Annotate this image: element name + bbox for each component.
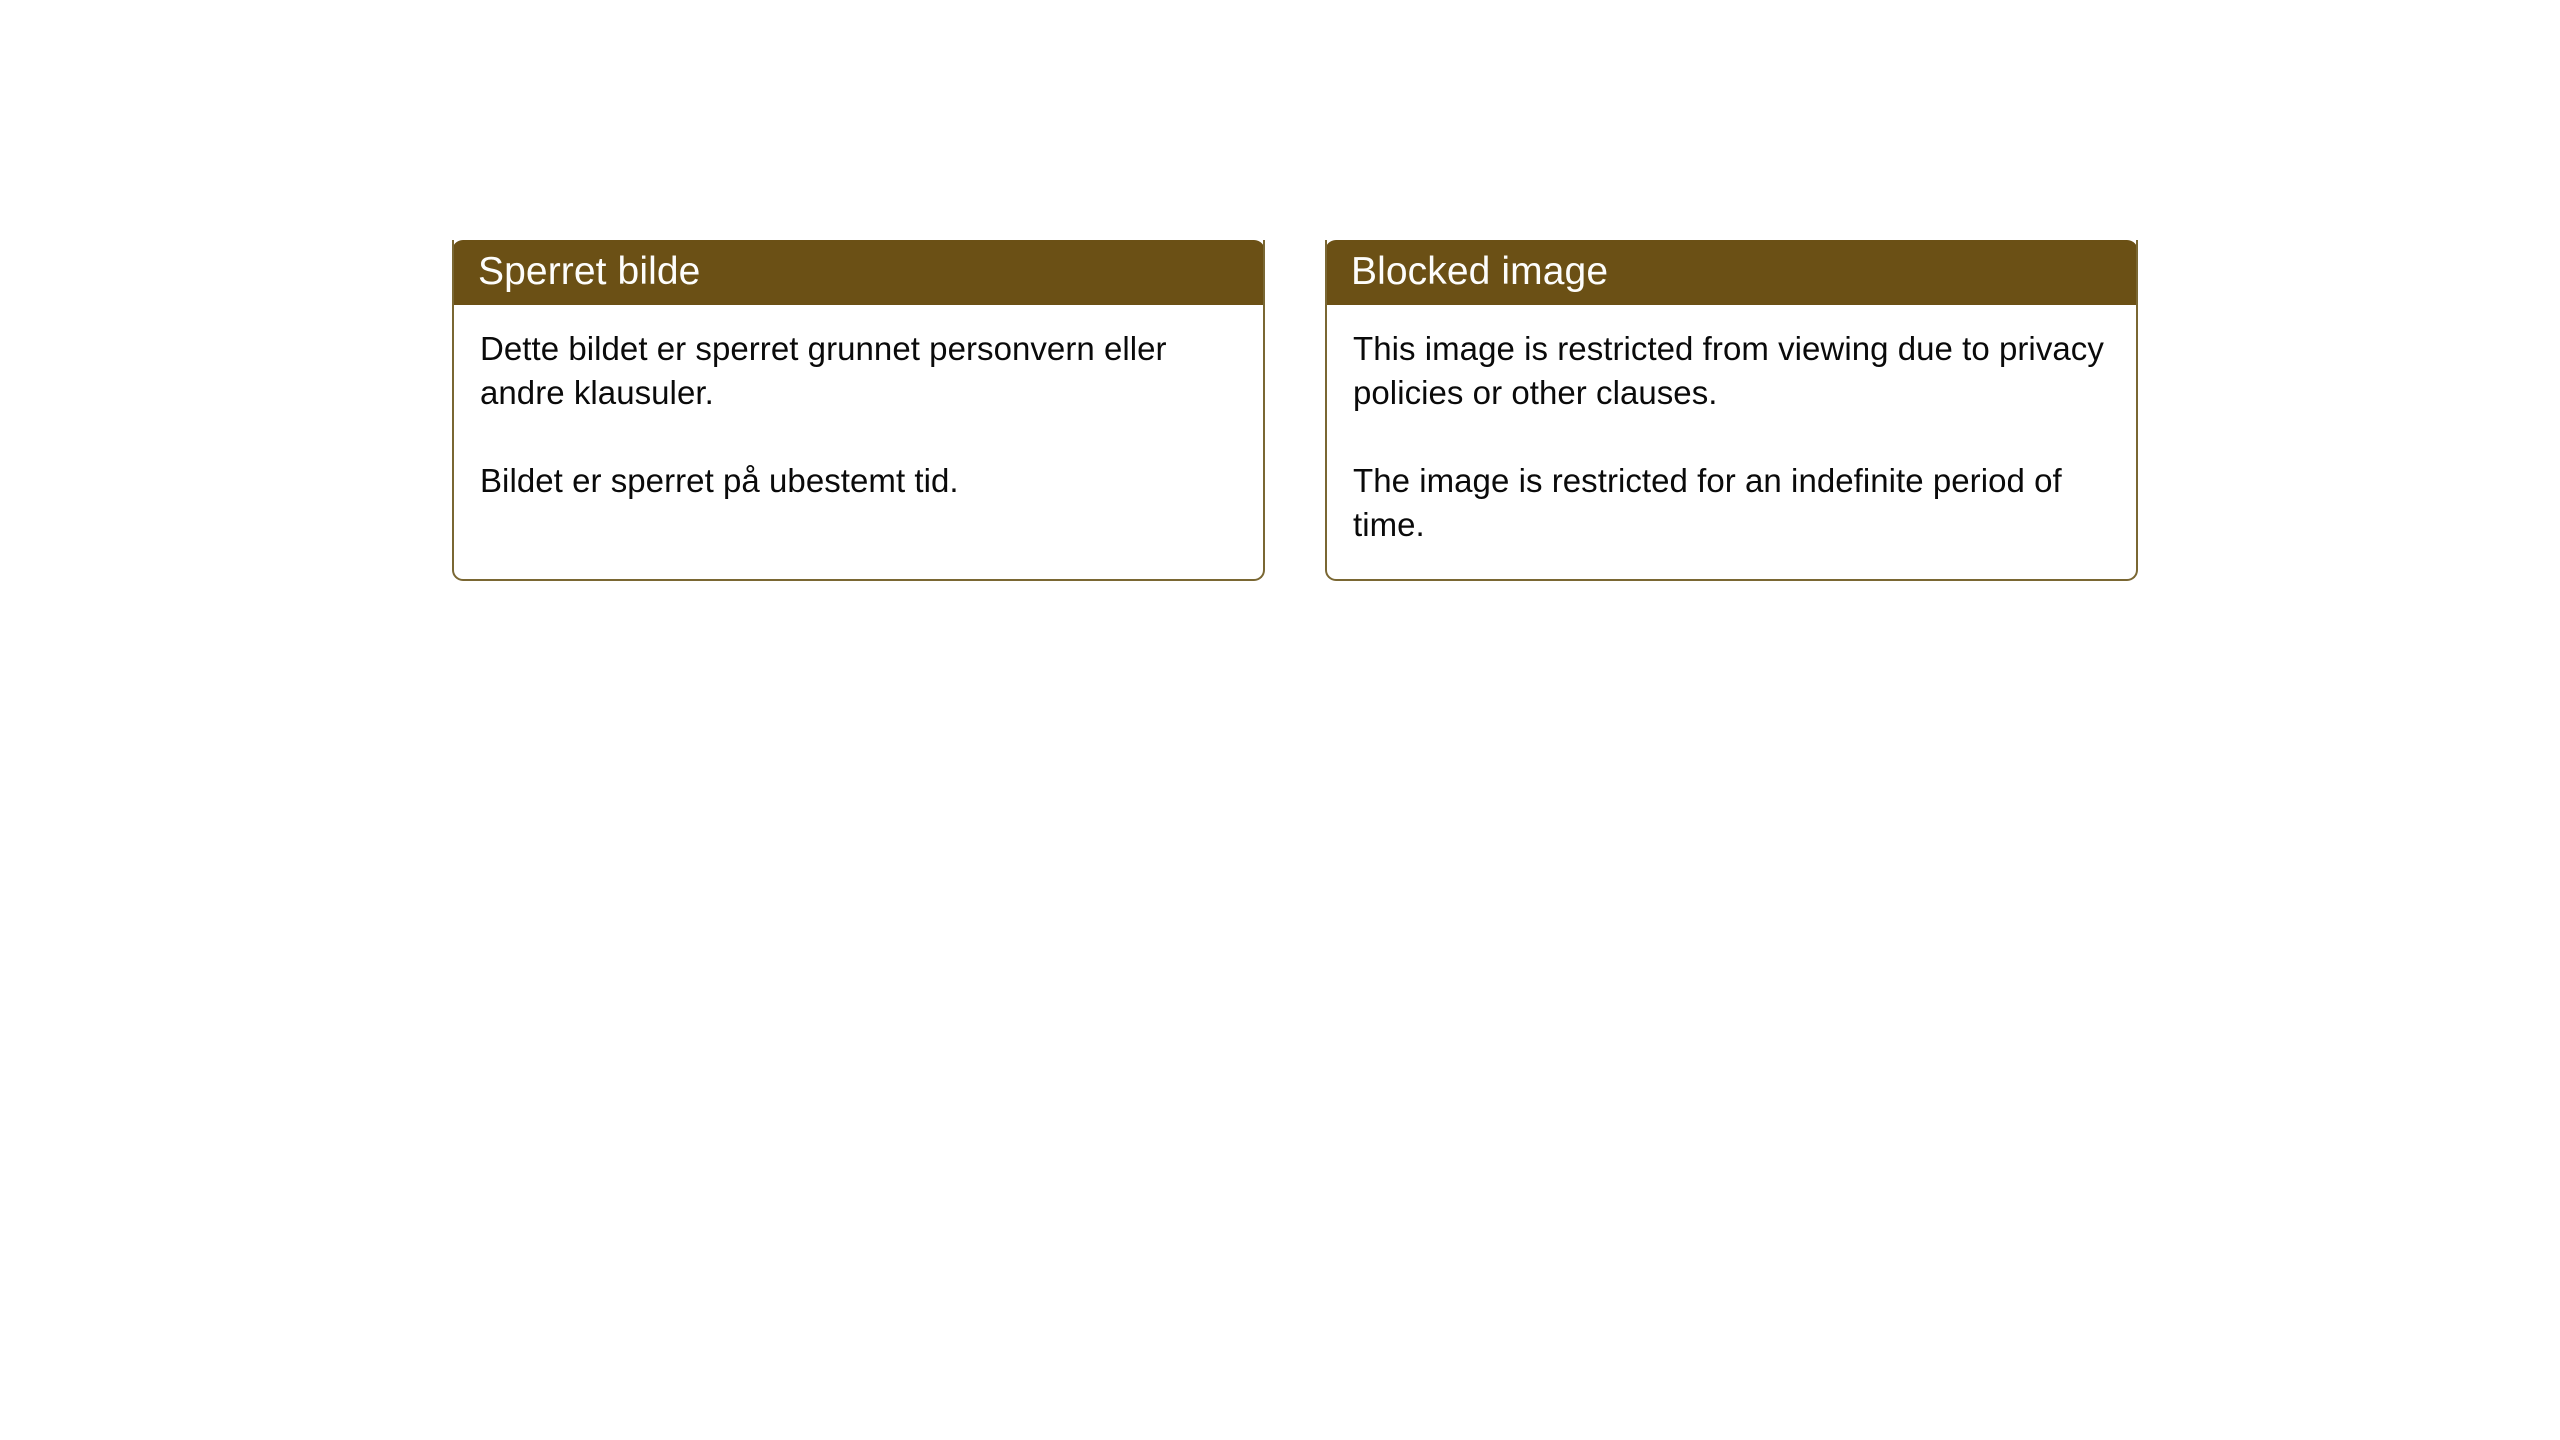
card-paragraph-duration-english: The image is restricted for an indefinit…: [1353, 459, 2118, 547]
card-title-norwegian: Sperret bilde: [478, 252, 700, 291]
card-paragraph-reason-english: This image is restricted from viewing du…: [1353, 327, 2118, 415]
blocked-image-card-norwegian: Sperret bilde Dette bildet er sperret gr…: [452, 240, 1265, 581]
card-paragraph-duration-norwegian: Bildet er sperret på ubestemt tid.: [480, 459, 1245, 503]
card-paragraph-reason-norwegian: Dette bildet er sperret grunnet personve…: [480, 327, 1245, 415]
card-header-norwegian: Sperret bilde: [452, 240, 1265, 305]
card-body-english: This image is restricted from viewing du…: [1325, 305, 2138, 581]
card-title-english: Blocked image: [1351, 252, 1608, 291]
card-body-norwegian: Dette bildet er sperret grunnet personve…: [452, 305, 1265, 581]
card-header-english: Blocked image: [1325, 240, 2138, 305]
page-canvas: Sperret bilde Dette bildet er sperret gr…: [0, 0, 2560, 1440]
blocked-image-card-english: Blocked image This image is restricted f…: [1325, 240, 2138, 581]
